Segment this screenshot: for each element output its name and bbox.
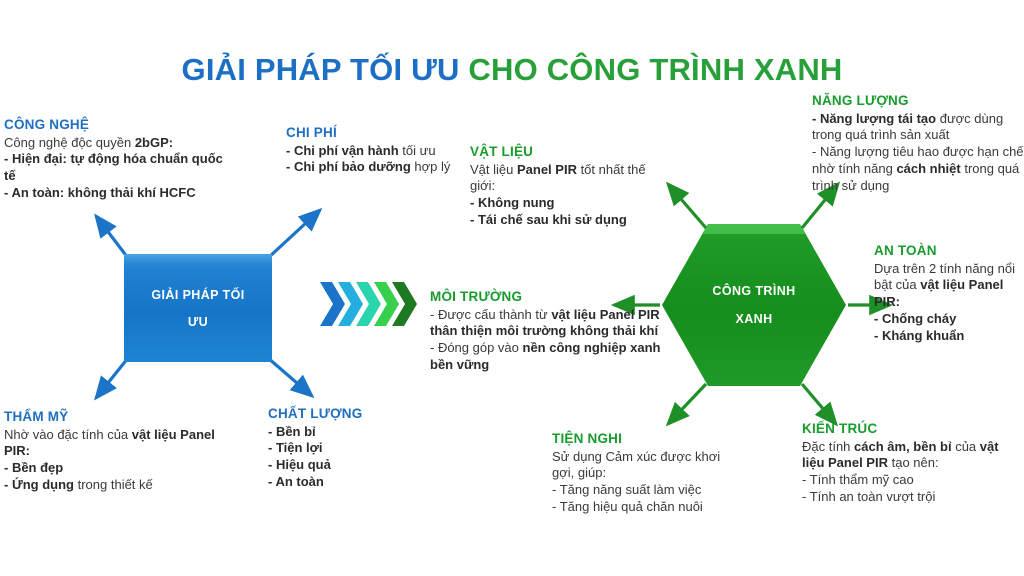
text-run-bold: An toàn: không thải khí HCFC [11,185,195,200]
block-chi-phi: CHI PHÍ- Chi phí vận hành tối ưu- Chi ph… [286,124,462,176]
text-run: tối ưu [402,143,435,158]
block-heading: AN TOÀN [874,242,1024,260]
blue-arrow-up-right [268,210,320,258]
text-run: trong thiết kế [78,477,153,492]
blue-node-label: GIẢI PHÁP TỐI ƯU [124,254,272,362]
block-moi-truong: MÔI TRƯỜNG- Được cấu thành từ vật liệu P… [430,288,662,374]
block-line: - Chi phí vận hành tối ưu [286,143,462,160]
block-heading: THẨM MỸ [4,408,244,426]
block-chat-luong: CHẤT LƯỢNG- Bền bỉ- Tiện lợi- Hiệu quả- … [268,405,438,491]
text-run: tạo nên: [888,455,939,470]
green-node-label-line2: XANH [735,312,772,326]
block-vat-lieu: VẬT LIỆUVật liệu Panel PIR tốt nhất thế … [470,143,670,229]
block-line: Đặc tính cách âm, bền bỉ của vật liệu Pa… [802,439,1024,473]
text-run-bold: - Bền bỉ [268,424,316,439]
text-run-bold: - Chi phí vận hành [286,143,402,158]
block-heading: KIẾN TRÚC [802,420,1024,438]
chevron-1 [320,282,345,326]
block-line: Công nghệ độc quyền 2bGP: [4,135,236,152]
text-run-bold: Hiện đại: tự động hóa chuẩn quốc tế [4,151,223,183]
block-line: - Tăng năng suất làm việc [552,482,742,499]
green-arrow-down-right [802,384,836,424]
green-arrow-down-left [668,384,706,424]
block-line: - Được cấu thành từ vật liệu Panel PIR t… [430,307,662,341]
block-heading: CHẤT LƯỢNG [268,405,438,423]
block-heading: CHI PHÍ [286,124,462,142]
text-run: - Tính thẩm mỹ cao [802,472,914,487]
text-run-bold: - Kháng khuẩn [874,328,964,343]
block-line: Vật liệu Panel PIR tốt nhất thế giới: [470,162,670,196]
blue-arrow-up-left [96,216,128,258]
block-line: Nhờ vào đặc tính của vật liệu Panel PIR: [4,427,244,461]
text-run-bold: - [4,151,12,166]
text-run-bold: cách âm, bền bỉ [854,439,952,454]
infographic-canvas: GIẢI PHÁP TỐI ƯU CHO CÔNG TRÌNH XANH [0,0,1024,576]
block-kien-truc: KIẾN TRÚCĐặc tính cách âm, bền bỉ của vậ… [802,420,1024,506]
green-node-label-line1: CÔNG TRÌNH [712,284,795,298]
text-run-bold: - Hiệu quả [268,457,331,472]
block-line: - Tiện lợi [268,440,438,457]
block-heading: TIỆN NGHI [552,430,742,448]
block-line: - Hiện đại: tự động hóa chuẩn quốc tế [4,151,236,185]
text-run: của [952,439,980,454]
block-cong-nghe: CÔNG NGHỆCông nghệ độc quyền 2bGP:- Hiện… [4,116,236,202]
text-run-bold: - Tiện lợi [268,440,323,455]
text-run-bold: - Chống cháy [874,311,956,326]
block-line: - Không nung [470,195,670,212]
text-run: Sử dụng Cảm xúc được khơi gợi, giúp: [552,449,720,481]
block-line: Sử dụng Cảm xúc được khơi gợi, giúp: [552,449,742,483]
page-title: GIẢI PHÁP TỐI ƯU CHO CÔNG TRÌNH XANH [0,52,1024,88]
block-heading: CÔNG NGHỆ [4,116,236,134]
blue-node-label-line1: GIẢI PHÁP TỐI [151,288,244,302]
text-run-bold: Panel PIR [517,162,577,177]
block-line: - An toàn: không thải khí HCFC [4,185,236,202]
block-line: - Chi phí bảo dưỡng hợp lý [286,159,462,176]
block-line: - An toàn [268,474,438,491]
block-nang-luong: NĂNG LƯỢNG- Năng lượng tái tạo được dùng… [812,92,1024,195]
blue-center-node[interactable]: GIẢI PHÁP TỐI ƯU [124,254,272,362]
block-line: - Tái chế sau khi sử dụng [470,212,670,229]
block-heading: NĂNG LƯỢNG [812,92,1024,110]
block-line: - Bền đẹp [4,460,244,477]
text-run: - Đóng góp vào [430,340,523,355]
block-line: - Năng lượng tái tạo được dùng trong quá… [812,111,1024,145]
blue-arrow-down-left [96,358,128,398]
block-heading: VẬT LIỆU [470,143,670,161]
block-line: Dựa trên 2 tính năng nổi bật của vật liệ… [874,261,1024,312]
green-center-node[interactable]: CÔNG TRÌNH XANH [664,224,844,386]
block-line: - Tính thẩm mỹ cao [802,472,1024,489]
block-tham-my: THẨM MỸNhờ vào đặc tính của vật liệu Pan… [4,408,244,494]
text-run: Công nghệ độc quyền [4,135,135,150]
text-run-bold: - An toàn [268,474,324,489]
text-run: Vật liệu [470,162,517,177]
text-run: Đặc tính [802,439,854,454]
text-run: - Tính an toàn vượt trội [802,489,935,504]
blue-arrow-down-right [268,358,312,396]
page-title-blue-part: GIẢI PHÁP TỐI ƯU [182,52,460,87]
text-run-bold: cách nhiệt [896,161,960,176]
block-line: - Hiệu quả [268,457,438,474]
block-line: - Đóng góp vào nền công nghiệp xanh bền … [430,340,662,374]
block-an-toan: AN TOÀNDựa trên 2 tính năng nổi bật của … [874,242,1024,345]
text-run-bold: - Tái chế sau khi sử dụng [470,212,627,227]
block-line: - Kháng khuẩn [874,328,1024,345]
block-line: - Bền bỉ [268,424,438,441]
block-line: - Chống cháy [874,311,1024,328]
text-run-bold: - Năng lượng tái tạo [812,111,940,126]
block-line: - Tăng hiệu quả chăn nuôi [552,499,742,516]
text-run: - Tăng năng suất làm việc [552,482,701,497]
text-run-bold: - Không nung [470,195,554,210]
block-line: - Ứng dụng trong thiết kế [4,477,244,494]
text-run: hợp lý [414,159,450,174]
block-tien-nghi: TIỆN NGHISử dụng Cảm xúc được khơi gợi, … [552,430,742,516]
blue-node-label-line2: ƯU [188,315,208,329]
page-title-green-part: CHO CÔNG TRÌNH XANH [460,52,843,87]
green-arrow-up-left [668,184,706,228]
block-heading: MÔI TRƯỜNG [430,288,662,306]
text-run-bold: - Ứng dụng [4,477,78,492]
text-run: Nhờ vào đặc tính của [4,427,132,442]
text-run-bold: - Chi phí bảo dưỡng [286,159,414,174]
block-line: - Năng lượng tiêu hao được hạn chế nhờ t… [812,144,1024,195]
text-run: - Tăng hiệu quả chăn nuôi [552,499,703,514]
text-run: - Được cấu thành từ [430,307,551,322]
block-line: - Tính an toàn vượt trội [802,489,1024,506]
text-run-bold: 2bGP: [135,135,173,150]
text-run-bold: - Bền đẹp [4,460,63,475]
chevron-arrow-group [318,278,422,330]
